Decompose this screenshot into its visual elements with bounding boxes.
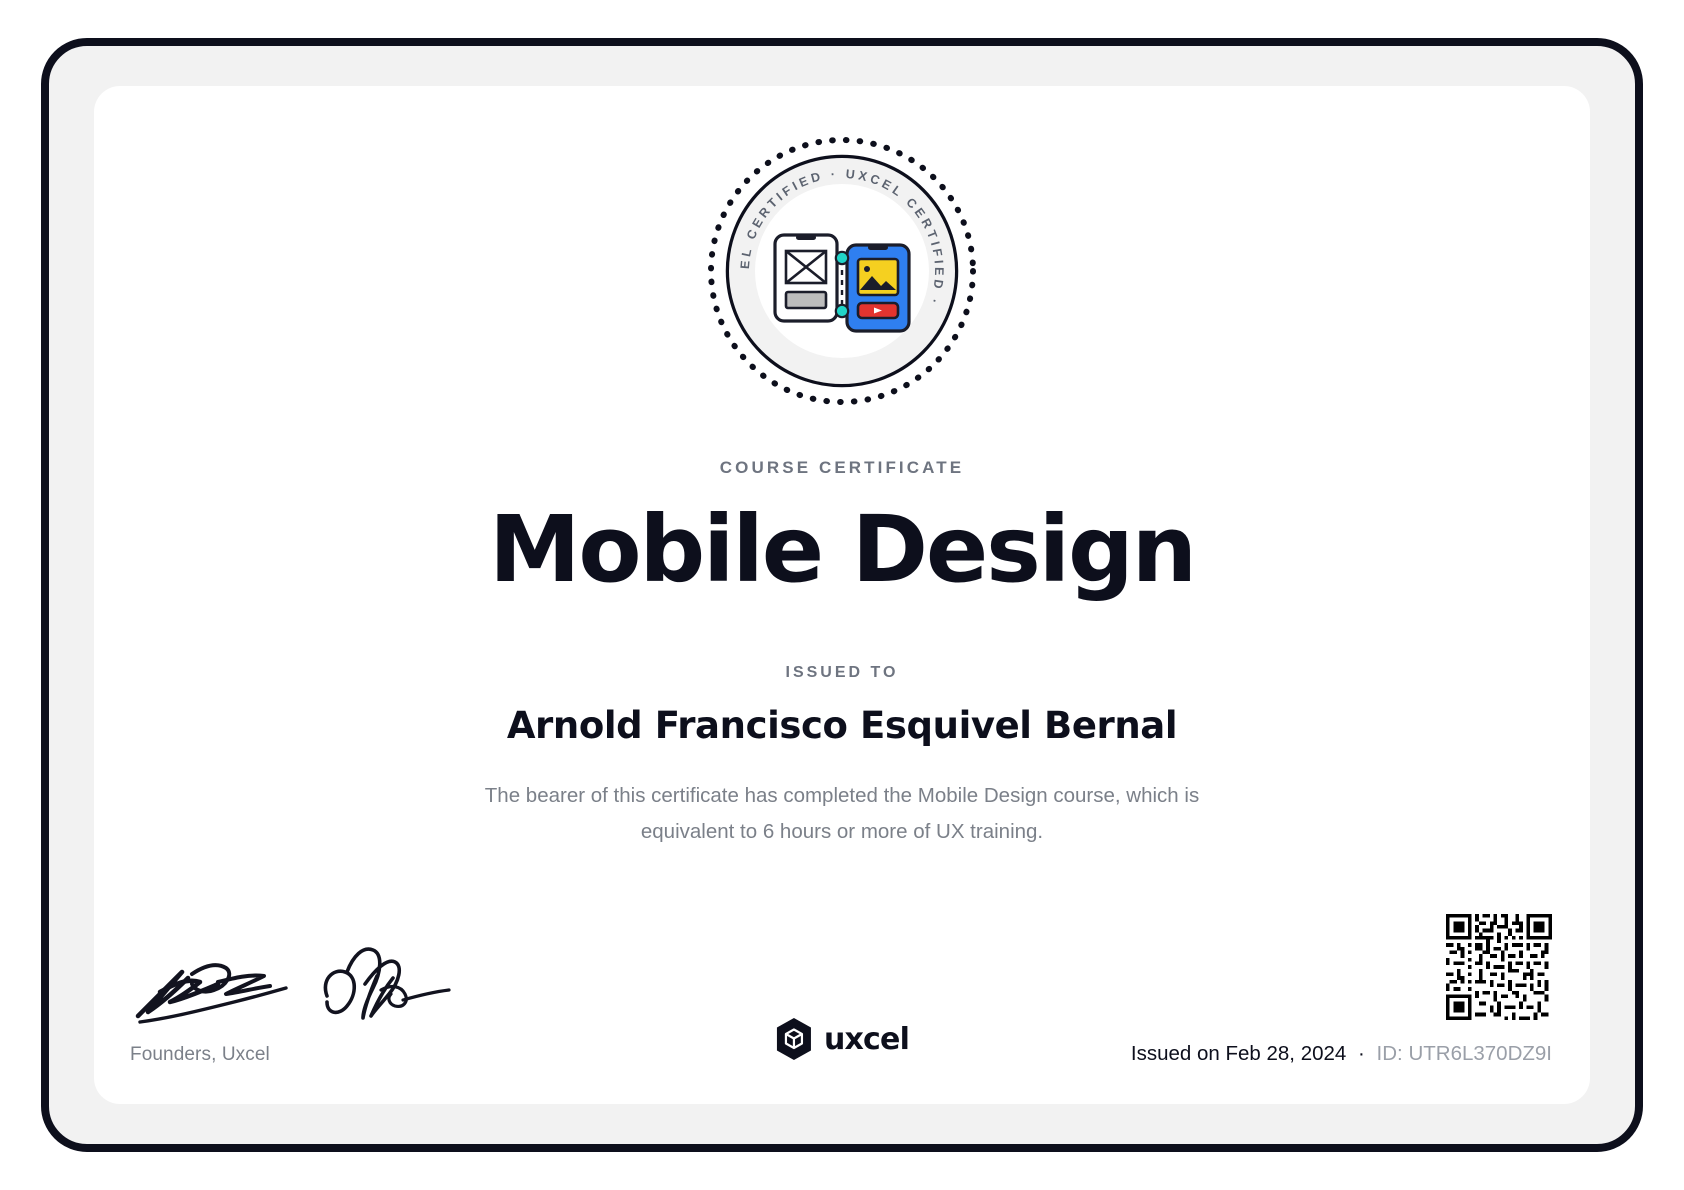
signature-block: Founders, Uxcel: [130, 944, 460, 1066]
eyebrow-issued-to: ISSUED TO: [94, 664, 1590, 682]
recipient-name: Arnold Francisco Esquivel Bernal: [94, 704, 1590, 747]
certificate-id: ID: UTR6L370DZ9I: [1377, 1042, 1552, 1065]
uxcel-certified-badge: UXCEL CERTIFIED · UXCEL CERTIFIED ·: [702, 131, 982, 411]
issued-on-date: Issued on Feb 28, 2024: [1131, 1042, 1346, 1065]
eyebrow-course-certificate: COURSE CERTIFICATE: [94, 458, 1590, 478]
signatures-row: [130, 944, 460, 1030]
handle-dot-bottom: [836, 305, 848, 317]
founder-signature-two-icon: [319, 944, 459, 1030]
issuance-separator: ·: [1358, 1042, 1365, 1065]
handle-dot-top: [836, 252, 848, 264]
brand-wordmark: uxcel: [824, 1022, 909, 1057]
certificate-description: The bearer of this certificate has compl…: [437, 778, 1247, 851]
certificate-card: UXCEL CERTIFIED · UXCEL CERTIFIED ·: [94, 86, 1590, 1104]
wireframe-phone-icon: [775, 235, 837, 321]
brand-logo: uxcel: [775, 1018, 909, 1060]
qr-code: [1446, 914, 1552, 1020]
certificate-frame: UXCEL CERTIFIED · UXCEL CERTIFIED ·: [41, 38, 1643, 1152]
uxcel-cube-logo-icon: [775, 1018, 813, 1060]
issuance-line: Issued on Feb 28, 2024 · ID: UTR6L370DZ9…: [1131, 1042, 1552, 1066]
course-title: Mobile Design: [94, 498, 1590, 601]
certificate-footer: Founders, Uxcel uxcel: [94, 874, 1590, 1104]
issuance-block: Issued on Feb 28, 2024 · ID: UTR6L370DZ9…: [1131, 914, 1552, 1066]
founder-signature-one-icon: [130, 944, 315, 1030]
founders-label: Founders, Uxcel: [130, 1044, 460, 1066]
preview-phone-icon: [847, 245, 909, 331]
